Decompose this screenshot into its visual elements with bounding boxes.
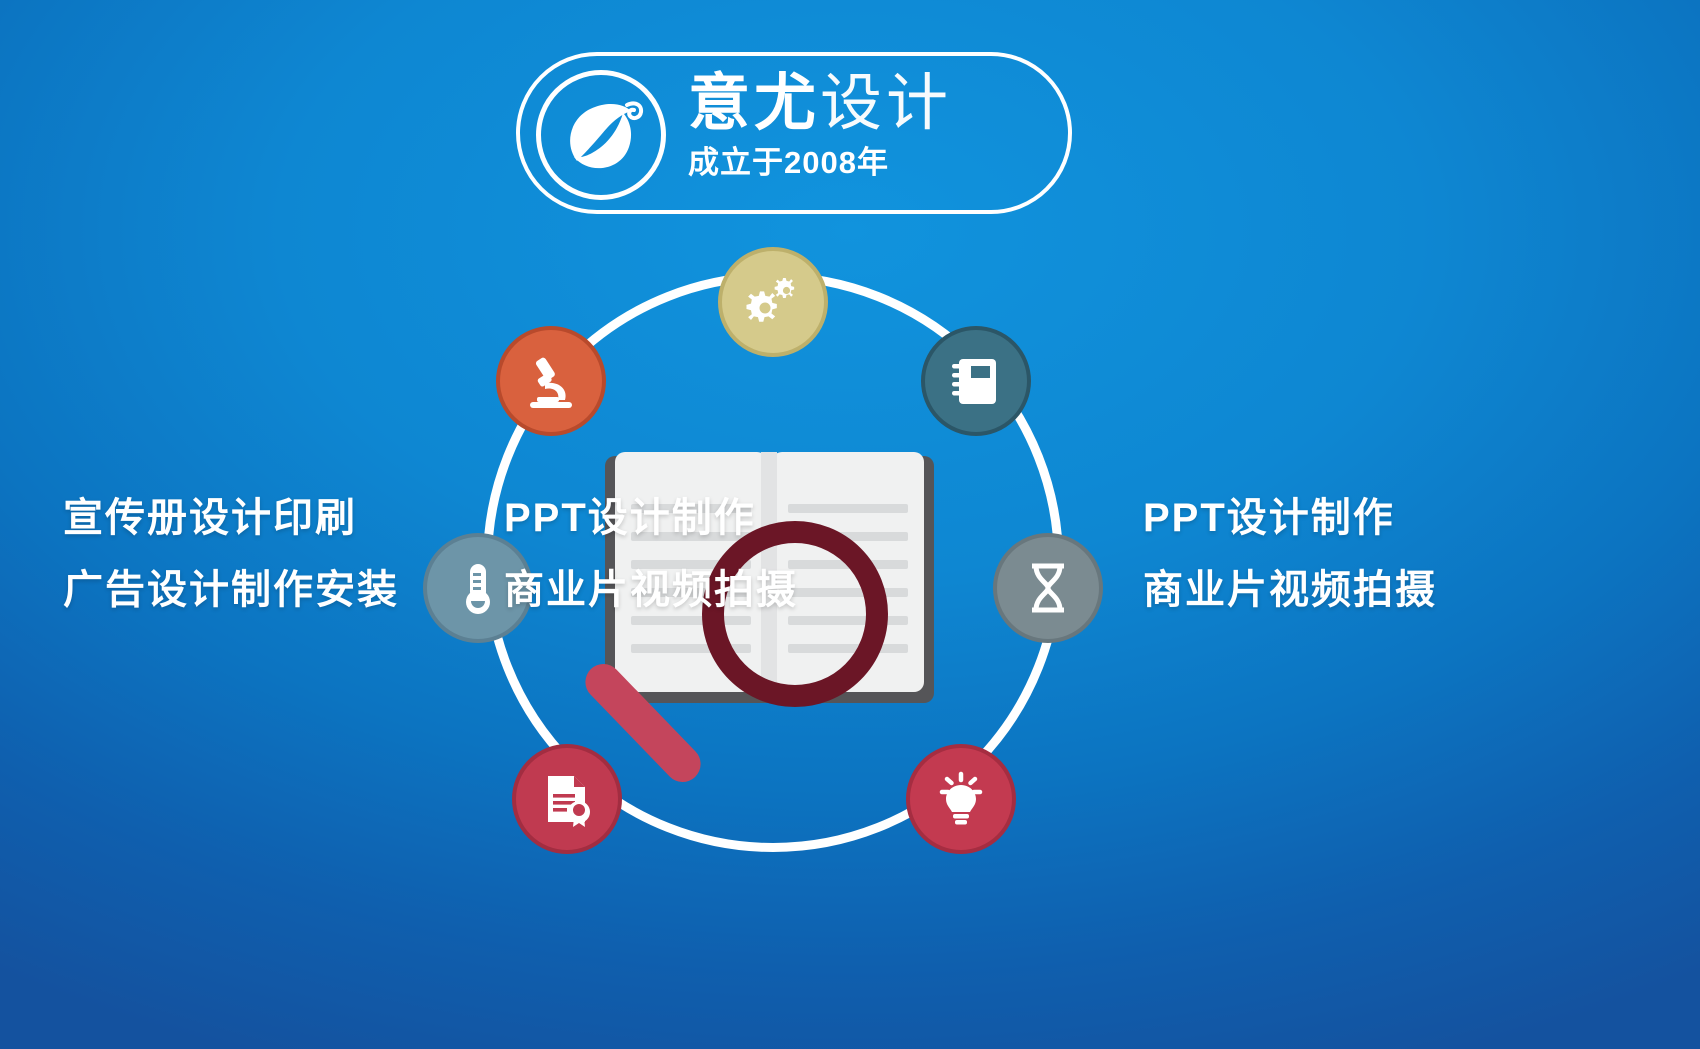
middle-line-2: 商业片视频拍摄 xyxy=(504,554,798,626)
gears-icon xyxy=(742,271,804,333)
certificate-icon xyxy=(538,770,596,828)
brand-title-thin: 设计 xyxy=(820,69,952,138)
right-line-1: PPT设计制作 xyxy=(1143,482,1437,554)
brand-title-bold: 意尤 xyxy=(688,69,820,138)
brand-subtitle: 成立于2008年 xyxy=(688,144,1058,182)
brand-wordmark: 意尤设计 成立于2008年 xyxy=(688,66,1058,208)
middle-line-1: PPT设计制作 xyxy=(504,482,798,554)
left-line-2: 广告设计制作安装 xyxy=(63,554,399,626)
lightbulb-icon xyxy=(930,768,992,830)
node-hourglass[interactable] xyxy=(993,533,1103,643)
slide-canvas: 意尤设计 成立于2008年 xyxy=(0,0,1700,1049)
microscope-icon xyxy=(520,350,582,412)
node-notebook[interactable] xyxy=(921,326,1031,436)
brand-logo: 意尤设计 成立于2008年 xyxy=(516,52,1072,214)
hourglass-icon xyxy=(1019,559,1077,617)
node-microscope[interactable] xyxy=(496,326,606,436)
text-column-left: 宣传册设计印刷 广告设计制作安装 xyxy=(63,482,399,626)
thermometer-icon xyxy=(449,559,507,617)
text-column-right: PPT设计制作 商业片视频拍摄 xyxy=(1143,482,1437,626)
notebook-icon xyxy=(946,351,1006,411)
brand-title: 意尤设计 xyxy=(688,66,1058,142)
leaf-logo-icon xyxy=(536,70,666,200)
node-gears[interactable] xyxy=(718,247,828,357)
text-column-middle: PPT设计制作 商业片视频拍摄 xyxy=(504,482,798,626)
left-line-1: 宣传册设计印刷 xyxy=(63,482,399,554)
right-line-2: 商业片视频拍摄 xyxy=(1143,554,1437,626)
